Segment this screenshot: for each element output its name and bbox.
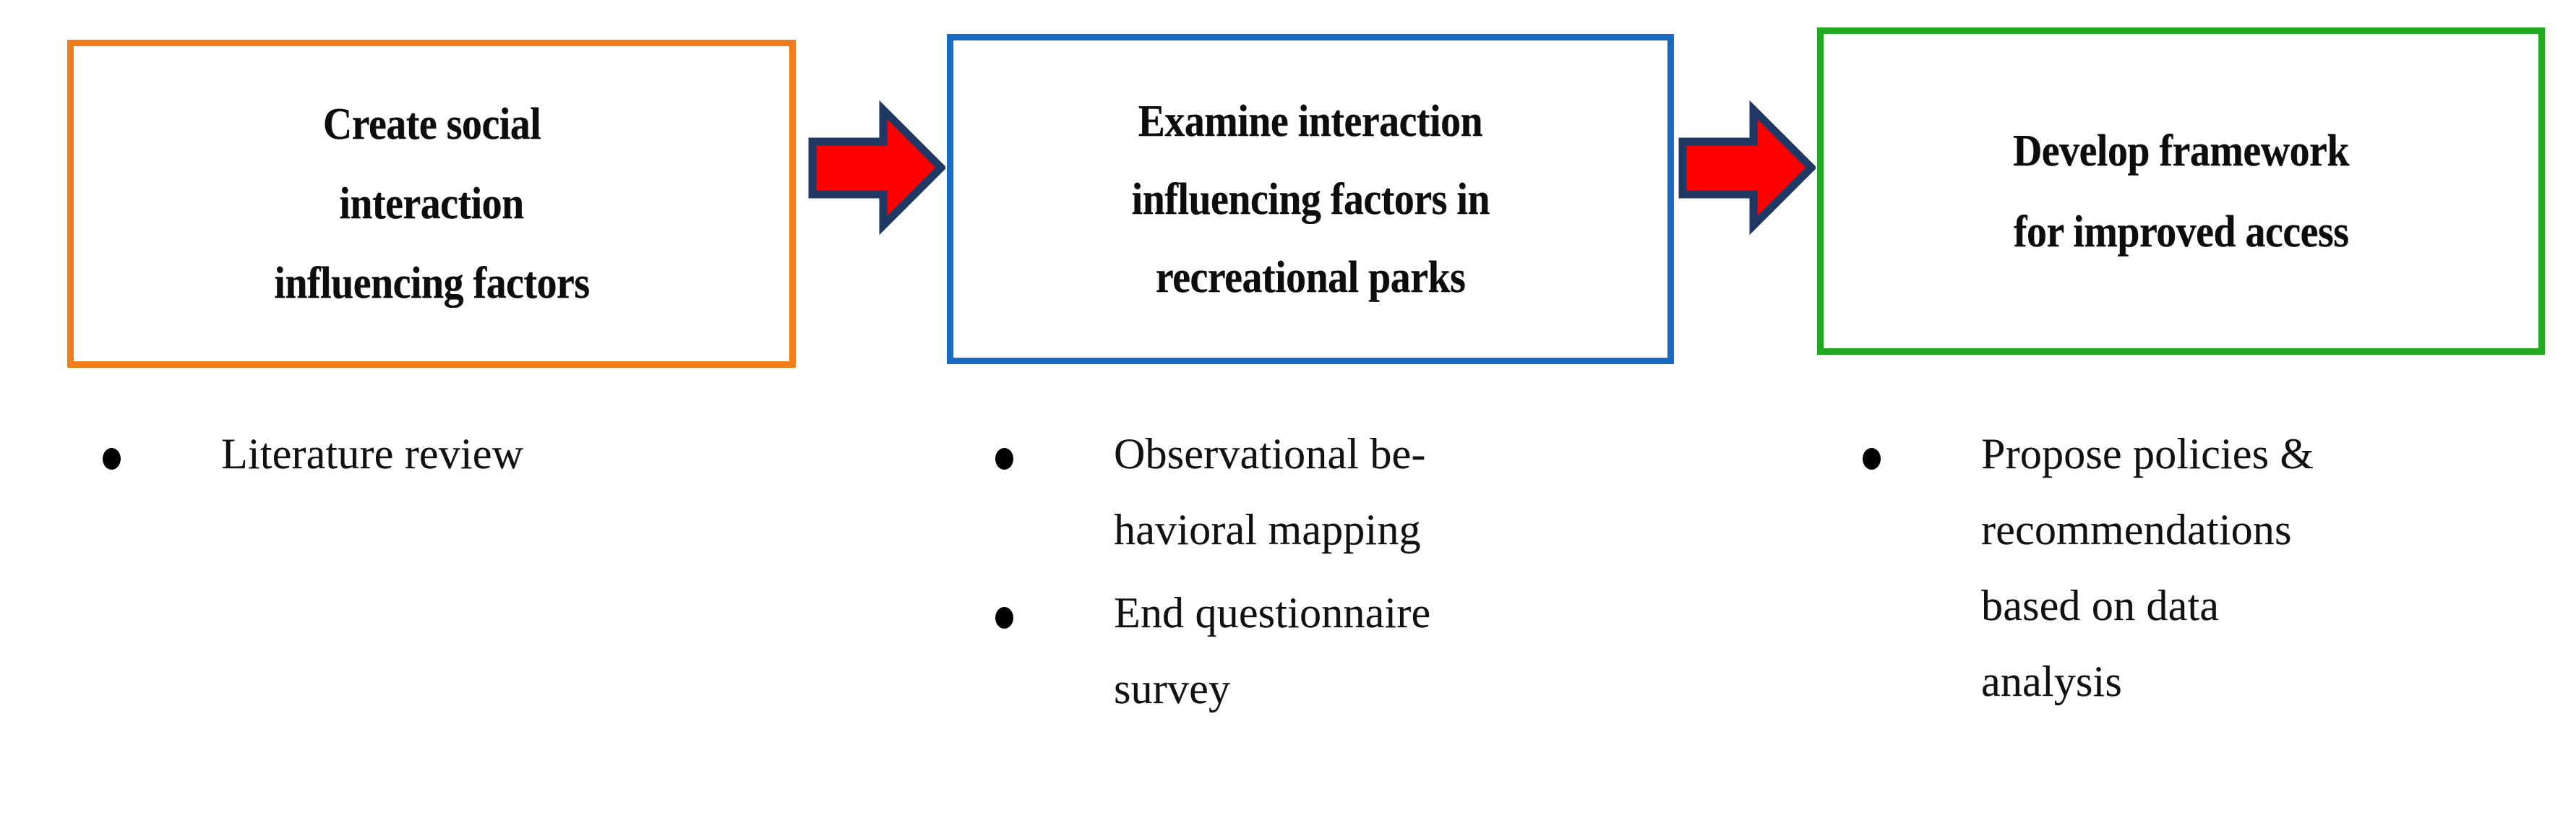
stage-heading-line: Create social xyxy=(322,102,540,147)
stage-heading-line: recreational parks xyxy=(1156,255,1465,300)
stage-heading-line: Develop framework xyxy=(2013,129,2349,173)
stage-box-develop-framework-for-improved-access: Develop framework for improved access xyxy=(1817,27,2545,355)
list-item: Observational be- havioral mapping xyxy=(972,416,1695,568)
bullet-text: Propose policies & recommendations based… xyxy=(1981,416,2562,720)
bullet-list-stage-2: Observational be- havioral mapping End q… xyxy=(972,416,1695,734)
bullet-list-stage-1: Literature review xyxy=(80,416,802,499)
bullet-text: Observational be- havioral mapping xyxy=(1114,416,1695,568)
bullet-dot-icon xyxy=(995,607,1013,629)
bullet-text: Literature review xyxy=(221,416,802,492)
right-arrow-icon xyxy=(1678,94,1816,242)
bullet-dot-icon xyxy=(103,448,121,470)
stage-heading-line: Examine interaction xyxy=(1138,99,1483,144)
right-arrow-icon xyxy=(808,94,945,242)
stage-heading-line: influencing factors in xyxy=(1131,177,1489,222)
list-item: Propose policies & recommendations based… xyxy=(1839,416,2562,720)
stage-heading-line: interaction xyxy=(339,181,523,226)
bullet-dot-icon xyxy=(995,448,1013,470)
stage-box-examine-interaction-influencing-factors-in-recreational-parks: Examine interaction influencing factors … xyxy=(947,34,1674,364)
bullet-text: End questionnaire survey xyxy=(1114,575,1695,727)
list-item: Literature review xyxy=(80,416,802,492)
list-item: End questionnaire survey xyxy=(972,575,1695,727)
bullet-list-stage-3: Propose policies & recommendations based… xyxy=(1839,416,2562,727)
stage-heading-line: influencing factors xyxy=(274,261,589,306)
stage-heading-line: for improved access xyxy=(2014,210,2349,254)
stage-box-create-social-interaction-influencing-factors: Create social interaction influencing fa… xyxy=(67,40,796,368)
bullet-dot-icon xyxy=(1863,448,1881,470)
diagram-canvas: Create social interaction influencing fa… xyxy=(0,0,2576,823)
